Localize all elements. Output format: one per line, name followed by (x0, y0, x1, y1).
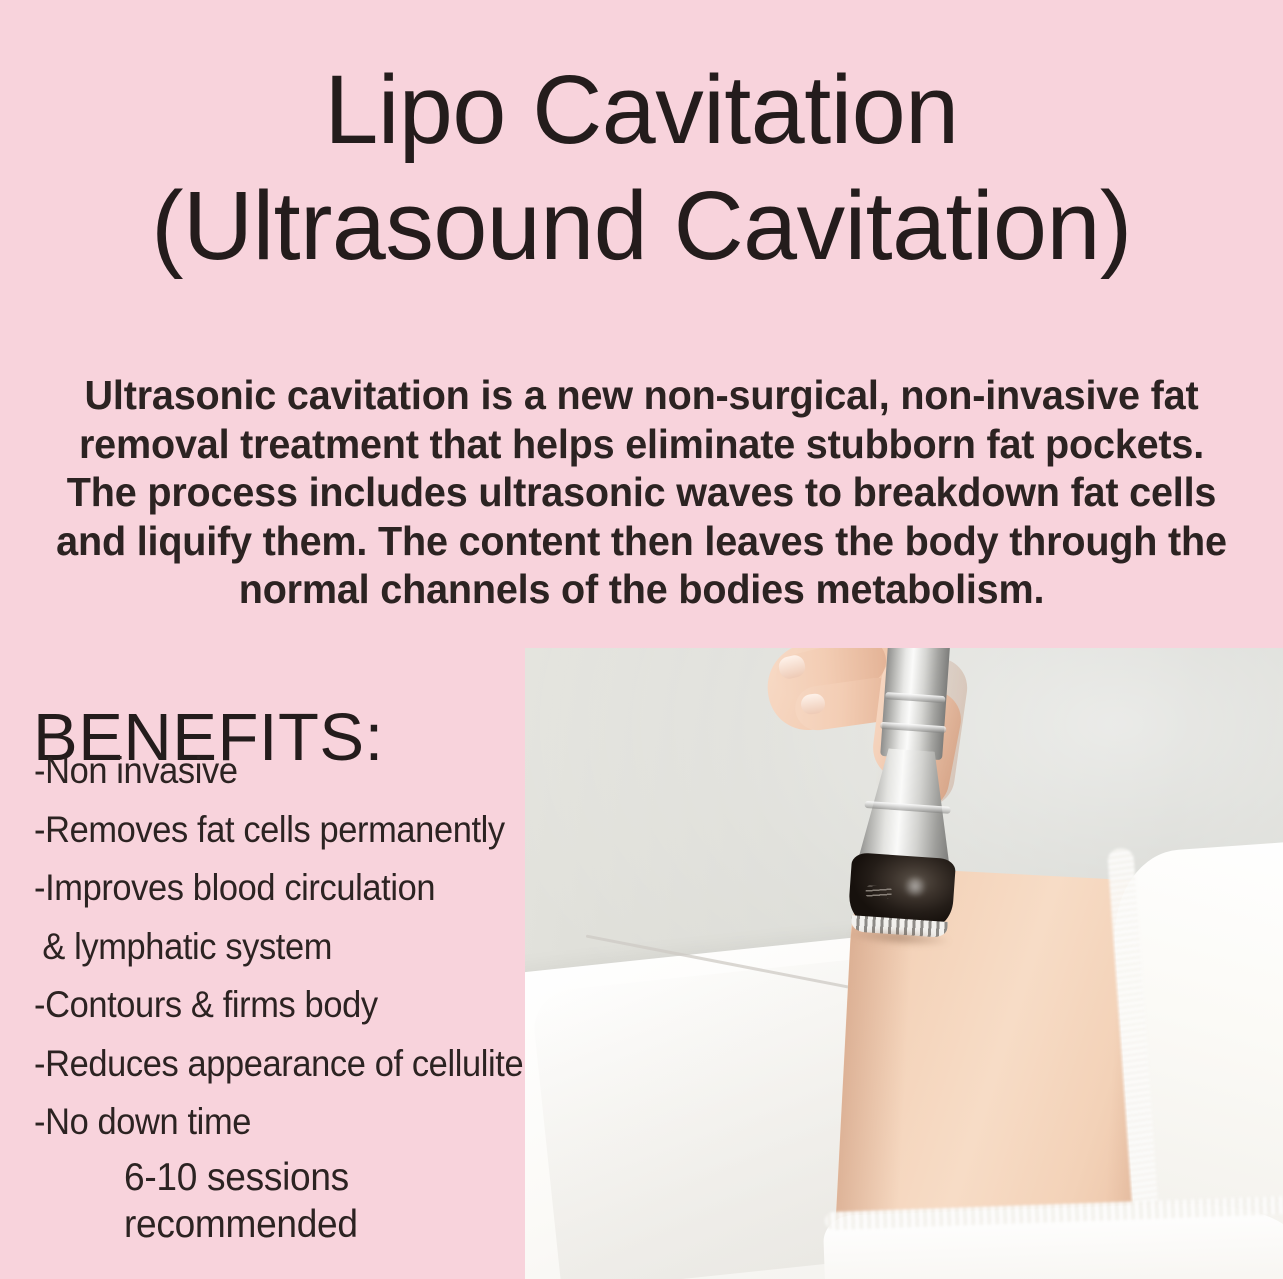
intro-paragraph: Ultrasonic cavitation is a new non-surgi… (49, 371, 1233, 614)
list-item: -Contours & firms body (34, 976, 499, 1035)
list-item: -Removes fat cells permanently (34, 801, 499, 860)
cavitation-handpiece (825, 648, 996, 943)
treatment-photo (525, 648, 1283, 1279)
list-item: -Improves blood circulation (34, 859, 499, 918)
page-title: Lipo Cavitation (Ultrasound Cavitation) (0, 52, 1283, 284)
title-line-1: Lipo Cavitation (0, 52, 1283, 168)
sessions-line-1: 6-10 sessions (124, 1154, 358, 1201)
list-item: -No down time (34, 1093, 499, 1152)
list-item: & lymphatic system (34, 918, 499, 977)
title-line-2: (Ultrasound Cavitation) (0, 168, 1283, 284)
list-item: -Reduces appearance of cellulite (34, 1035, 499, 1094)
handpiece-vent (865, 885, 892, 899)
benefits-list: -Non invasive -Removes fat cells permane… (34, 742, 534, 1152)
handpiece-shaft (880, 648, 950, 760)
sessions-recommendation: 6-10 sessions recommended (124, 1154, 358, 1248)
lipo-cavitation-infographic: Lipo Cavitation (Ultrasound Cavitation) … (0, 0, 1283, 1279)
list-item: -Non invasive (34, 742, 499, 801)
sessions-line-2: recommended (124, 1201, 358, 1248)
